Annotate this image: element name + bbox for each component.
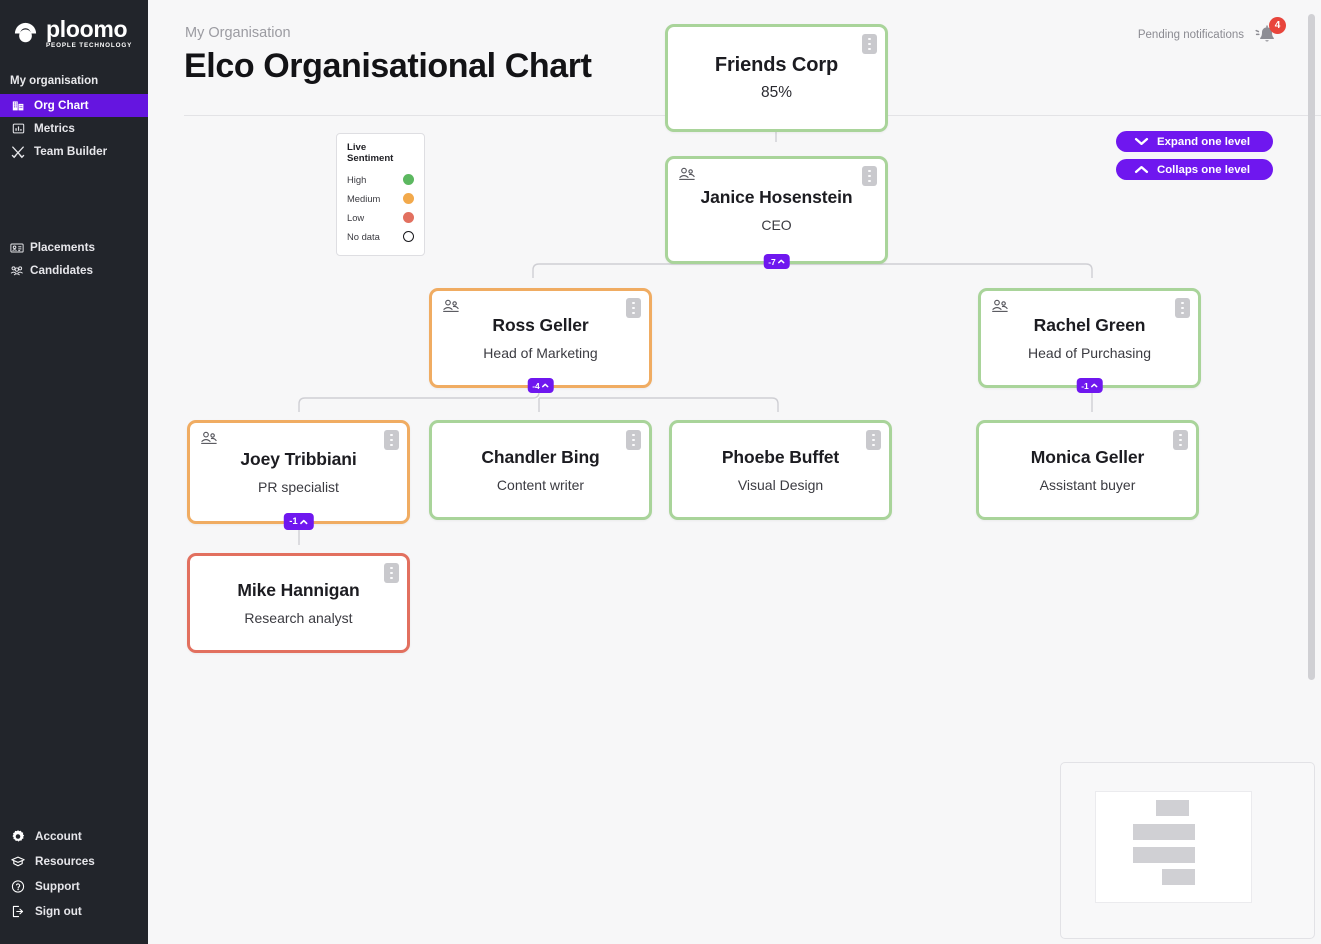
sidebar-item-support[interactable]: Support (0, 874, 148, 899)
team-members-icon (442, 299, 460, 313)
sidebar-item-label: Support (35, 880, 80, 893)
node-collapse-count: -1 (289, 516, 297, 527)
id-card-icon (10, 241, 24, 255)
org-node-role: CEO (761, 217, 791, 233)
org-node-rachel-green[interactable]: Rachel Green Head of Purchasing -1 (978, 288, 1201, 388)
org-node-role: PR specialist (258, 479, 339, 495)
question-circle-icon (11, 880, 25, 894)
sidebar-item-label: Team Builder (34, 145, 107, 158)
gear-icon (11, 830, 25, 844)
sidebar-item-label: Placements (30, 241, 95, 254)
org-node-phoebe-buffet[interactable]: Phoebe Buffet Visual Design (669, 420, 892, 520)
minimap-node (1156, 800, 1189, 816)
app-root: ploomo PEOPLE TECHNOLOGY My organisation… (0, 0, 1321, 944)
minimap-node (1162, 869, 1195, 885)
sidebar-item-label: Resources (35, 855, 95, 868)
minimap-viewport[interactable] (1095, 791, 1252, 903)
brand-name: ploomo (46, 18, 132, 41)
org-node-role: Research analyst (244, 610, 352, 626)
org-node-janice-hosenstein[interactable]: Janice Hosenstein CEO -7 (665, 156, 888, 264)
org-node-name: Mike Hannigan (237, 580, 359, 601)
org-node-name: Friends Corp (715, 54, 838, 77)
node-kebab-menu[interactable] (862, 166, 877, 186)
sidebar-item-label: Metrics (34, 122, 75, 135)
sidebar-item-candidates[interactable]: Candidates (0, 259, 148, 282)
graduation-cap-icon (11, 855, 25, 869)
node-collapse-badge[interactable]: -7 (763, 254, 790, 269)
tools-cross-icon (11, 145, 25, 159)
node-collapse-badge[interactable]: -4 (527, 378, 554, 393)
sidebar-item-team-builder[interactable]: Team Builder (0, 140, 148, 163)
team-members-icon (991, 299, 1009, 313)
sidebar-item-label: Account (35, 830, 82, 843)
node-collapse-count: -1 (1081, 381, 1089, 391)
sidebar-item-sign-out[interactable]: Sign out (0, 899, 148, 924)
org-node-role: Head of Marketing (483, 345, 597, 361)
org-node-monica-geller[interactable]: Monica Geller Assistant buyer (976, 420, 1199, 520)
people-group-icon (10, 264, 24, 278)
sidebar-item-label: Org Chart (34, 99, 89, 112)
node-collapse-badge[interactable]: -1 (283, 513, 313, 530)
org-chart-canvas[interactable]: Friends Corp 85% Janice Hosenstein CEO -… (148, 0, 1321, 944)
sidebar-section-title: My organisation (0, 75, 148, 87)
org-node-joey-tribbiani[interactable]: Joey Tribbiani PR specialist -1 (187, 420, 410, 524)
minimap-node (1162, 824, 1195, 840)
node-kebab-menu[interactable] (862, 34, 877, 54)
org-node-name: Joey Tribbiani (240, 449, 356, 470)
node-kebab-menu[interactable] (1173, 430, 1188, 450)
node-collapse-count: -4 (532, 381, 540, 391)
team-members-icon (200, 431, 218, 445)
main-content: My Organisation Elco Organisational Char… (148, 0, 1321, 944)
ploomo-logo-icon (12, 20, 39, 47)
org-node-role: 85% (761, 84, 792, 102)
vertical-scrollbar-thumb[interactable] (1308, 14, 1315, 680)
node-collapse-badge[interactable]: -1 (1076, 378, 1103, 393)
sidebar-item-label: Sign out (35, 905, 82, 918)
org-node-chandler-bing[interactable]: Chandler Bing Content writer (429, 420, 652, 520)
node-kebab-menu[interactable] (866, 430, 881, 450)
org-node-name: Phoebe Buffet (722, 447, 839, 468)
node-kebab-menu[interactable] (626, 430, 641, 450)
org-node-role: Assistant buyer (1040, 477, 1136, 493)
org-node-name: Monica Geller (1031, 447, 1144, 468)
sidebar-bottom-nav: Account Resources Suppor (0, 824, 148, 924)
bar-chart-icon (11, 122, 25, 136)
node-kebab-menu[interactable] (384, 563, 399, 583)
vertical-scrollbar-track[interactable] (1309, 0, 1318, 944)
org-node-mike-hannigan[interactable]: Mike Hannigan Research analyst (187, 553, 410, 653)
sidebar: ploomo PEOPLE TECHNOLOGY My organisation… (0, 0, 148, 944)
building-icon (11, 99, 25, 113)
minimap[interactable] (1060, 762, 1315, 939)
node-kebab-menu[interactable] (1175, 298, 1190, 318)
org-node-role: Content writer (497, 477, 584, 493)
team-members-icon (678, 167, 696, 181)
sidebar-item-resources[interactable]: Resources (0, 849, 148, 874)
org-node-role: Head of Purchasing (1028, 345, 1151, 361)
sign-out-icon (11, 905, 25, 919)
sidebar-item-label: Candidates (30, 264, 93, 277)
org-node-name: Rachel Green (1034, 315, 1146, 336)
org-node-name: Ross Geller (492, 315, 588, 336)
org-node-role: Visual Design (738, 477, 823, 493)
sidebar-item-placements[interactable]: Placements (0, 236, 148, 259)
sidebar-item-metrics[interactable]: Metrics (0, 117, 148, 140)
org-node-ross-geller[interactable]: Ross Geller Head of Marketing -4 (429, 288, 652, 388)
node-kebab-menu[interactable] (384, 430, 399, 450)
node-collapse-count: -7 (768, 257, 776, 267)
org-node-friends-corp[interactable]: Friends Corp 85% (665, 24, 888, 132)
org-node-name: Janice Hosenstein (701, 187, 853, 208)
sidebar-item-account[interactable]: Account (0, 824, 148, 849)
brand-logo-block[interactable]: ploomo PEOPLE TECHNOLOGY (0, 0, 148, 49)
node-kebab-menu[interactable] (626, 298, 641, 318)
sidebar-item-org-chart[interactable]: Org Chart (0, 94, 148, 117)
org-node-name: Chandler Bing (481, 447, 599, 468)
brand-tagline: PEOPLE TECHNOLOGY (46, 43, 132, 49)
minimap-node (1162, 847, 1195, 863)
